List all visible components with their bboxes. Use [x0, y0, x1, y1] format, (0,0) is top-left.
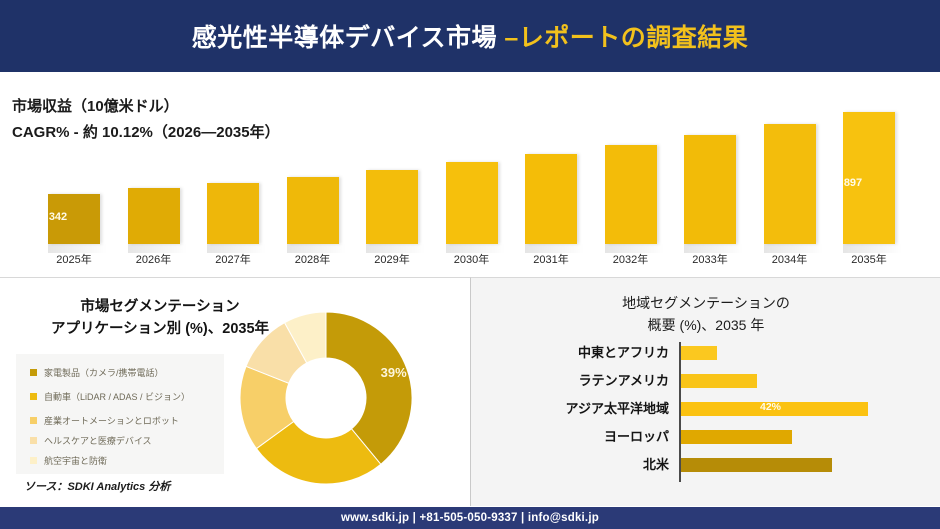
bar-category-label: 2032年	[589, 251, 673, 267]
horizontal-bar-category-label: 北米	[499, 456, 669, 474]
bar	[128, 188, 180, 244]
bar	[525, 154, 577, 244]
page-title: 感光性半導体デバイス市場 –レポートの調査結果	[192, 18, 749, 54]
bar-slot	[112, 104, 196, 244]
legend-swatch-icon	[30, 457, 37, 464]
bar-category-label: 2026年	[112, 251, 196, 267]
page-title-accent: –レポートの調査結果	[504, 24, 748, 52]
legend-swatch-icon	[30, 417, 37, 424]
bar	[446, 162, 498, 244]
donut-data-label: 39%	[381, 365, 407, 380]
bar-category-label: 2029年	[350, 251, 434, 267]
legend-item[interactable]: ヘルスケアと医療デバイス	[30, 434, 152, 447]
legend-swatch-icon	[30, 369, 37, 376]
horizontal-bar	[681, 346, 717, 360]
bar	[764, 124, 816, 244]
footer-contact-text: www.sdki.jp | +81-505-050-9337 | info@sd…	[341, 512, 599, 524]
legend-item[interactable]: 家電製品（カメラ/携帯電話）	[30, 366, 164, 379]
regional-segmentation-panel: 地域セグメンテーションの 概要 (%)、2035 年 中東とアフリカラテンアメリ…	[470, 277, 940, 506]
horizontal-bar-row: ラテンアメリカ	[471, 372, 940, 390]
bar-category-label: 2028年	[271, 251, 355, 267]
bar-category-label: 2027年	[191, 251, 275, 267]
bar-slot: 897	[827, 104, 911, 244]
bar-slot	[748, 104, 832, 244]
application-segmentation-panel: 市場セグメンテーション アプリケーション別 (%)、2035年 家電製品（カメラ…	[0, 277, 470, 506]
bar-category-label: 2033年	[668, 251, 752, 267]
bar-category-label: 2034年	[748, 251, 832, 267]
legend-item-label: 産業オートメーションとロボット	[44, 414, 179, 427]
bar	[287, 177, 339, 244]
bar	[366, 170, 418, 244]
horizontal-bar-row: ヨーロッパ	[471, 428, 940, 446]
horizontal-bar-category-label: 中東とアフリカ	[499, 344, 669, 362]
regional-segmentation-title: 地域セグメンテーションの 概要 (%)、2035 年	[531, 292, 881, 336]
regional-title-line-2: 概要 (%)、2035 年	[648, 317, 765, 333]
legend-item-label: 航空宇宙と防衛	[44, 454, 107, 467]
bar-slot	[271, 104, 355, 244]
footer-bar: www.sdki.jp | +81-505-050-9337 | info@sd…	[0, 507, 940, 529]
donut-chart: 39%	[228, 300, 424, 496]
horizontal-bar-category-label: アジア太平洋地域	[499, 400, 669, 418]
bar-value-label: 342	[32, 211, 84, 223]
horizontal-bar-category-label: ヨーロッパ	[499, 428, 669, 446]
page-title-main: 感光性半導体デバイス市場	[192, 24, 505, 52]
horizontal-bar-value-label: 42%	[760, 401, 781, 413]
horizontal-bar-row: 中東とアフリカ	[471, 344, 940, 362]
horizontal-bar	[681, 430, 792, 444]
bar-slot	[589, 104, 673, 244]
horizontal-bar-row: 北米	[471, 456, 940, 474]
slide-root: 感光性半導体デバイス市場 –レポートの調査結果 市場収益（10億米ドル） CAG…	[0, 0, 940, 529]
legend-item[interactable]: 航空宇宙と防衛	[30, 454, 107, 467]
bar-slot	[430, 104, 514, 244]
legend-item-label: 家電製品（カメラ/携帯電話）	[44, 366, 164, 379]
bar	[684, 135, 736, 244]
legend-item[interactable]: 産業オートメーションとロボット	[30, 414, 179, 427]
bar-slot	[350, 104, 434, 244]
source-note: ソース：SDKI Analytics 分析	[24, 478, 170, 494]
bar-value-label: 897	[827, 177, 879, 189]
bar-slot	[668, 104, 752, 244]
bar	[605, 145, 657, 244]
horizontal-bar	[681, 374, 757, 388]
horizontal-bar-category-label: ラテンアメリカ	[499, 372, 669, 390]
vertical-bars-container: 3422025年2026年2027年2028年2029年2030年2031年20…	[0, 72, 940, 275]
donut-svg	[228, 300, 424, 496]
bar-category-label: 2031年	[509, 251, 593, 267]
market-revenue-chart: 市場収益（10億米ドル） CAGR% - 約 10.12%（2026―2035年…	[0, 72, 940, 275]
legend-item-label: ヘルスケアと医療デバイス	[44, 434, 152, 447]
legend-swatch-icon	[30, 437, 37, 444]
horizontal-bars-container: 中東とアフリカラテンアメリカアジア太平洋地域42%ヨーロッパ北米	[471, 336, 940, 496]
legend-swatch-icon	[30, 393, 37, 400]
header-banner: 感光性半導体デバイス市場 –レポートの調査結果	[0, 0, 940, 72]
bar-category-label: 2030年	[430, 251, 514, 267]
donut-legend: 家電製品（カメラ/携帯電話）自動車（LiDAR / ADAS / ビジョン）産業…	[16, 354, 224, 474]
bar	[207, 183, 259, 244]
regional-title-line-1: 地域セグメンテーションの	[622, 295, 790, 311]
legend-item[interactable]: 自動車（LiDAR / ADAS / ビジョン）	[30, 390, 190, 403]
bar-slot	[509, 104, 593, 244]
bar-slot: 342	[32, 104, 116, 244]
bar-category-label: 2035年	[827, 251, 911, 267]
bar-slot	[191, 104, 275, 244]
horizontal-bar	[681, 458, 832, 472]
horizontal-bar-row: アジア太平洋地域42%	[471, 400, 940, 418]
bar-category-label: 2025年	[32, 251, 116, 267]
legend-item-label: 自動車（LiDAR / ADAS / ビジョン）	[44, 390, 190, 403]
